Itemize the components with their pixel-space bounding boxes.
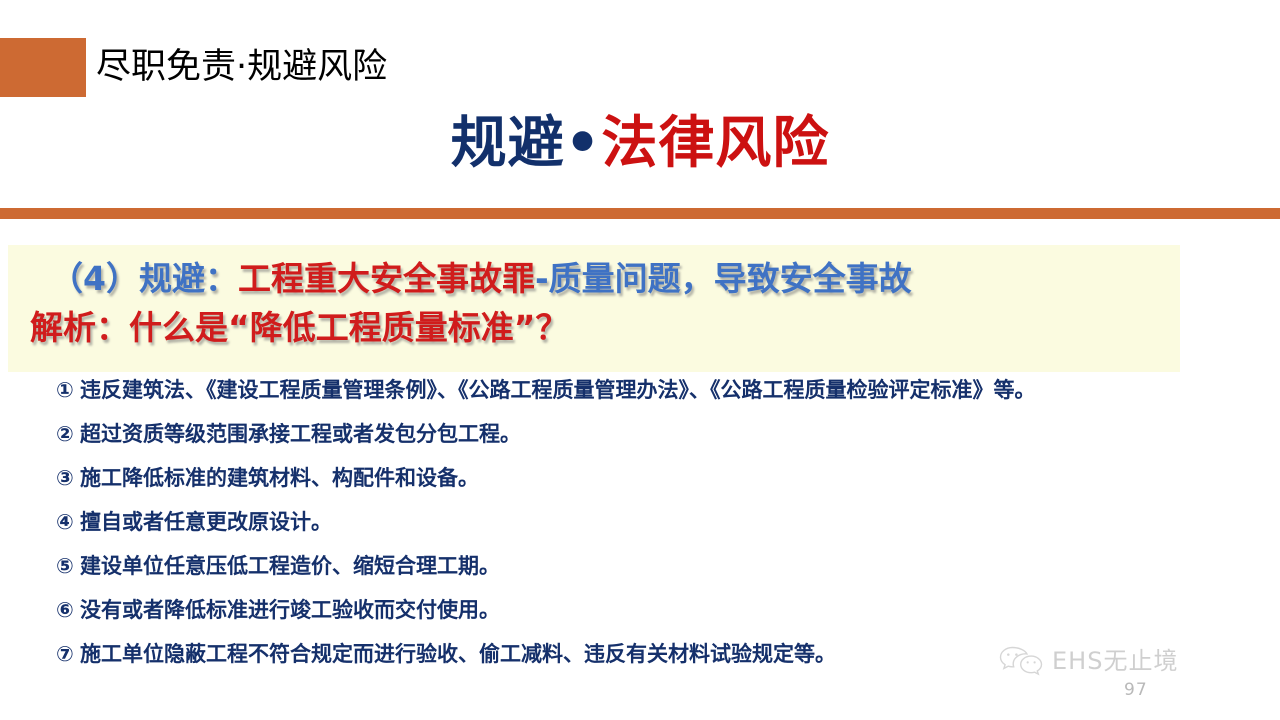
callout-line-1-suffix: -质量问题，导致安全事故	[535, 259, 912, 298]
numbered-list: ① 违反建筑法、《建设工程质量管理条例》、《公路工程质量管理办法》、《公路工程质…	[56, 378, 1256, 686]
list-item: ② 超过资质等级范围承接工程或者发包分包工程。	[56, 422, 1256, 466]
list-item-marker: ⑦	[56, 642, 80, 667]
list-item-marker: ⑤	[56, 554, 80, 579]
list-item-text: 建设单位任意压低工程造价、缩短合理工期。	[80, 554, 500, 579]
list-item: ④ 擅自或者任意更改原设计。	[56, 510, 1256, 554]
list-item-text: 施工降低标准的建筑材料、构配件和设备。	[80, 466, 479, 491]
header-accent-swatch	[0, 38, 86, 97]
list-item-marker: ②	[56, 422, 80, 447]
list-item-marker: ①	[56, 378, 80, 403]
callout-line-2-text: 解析：什么是“降低工程质量标准”？	[30, 308, 568, 347]
list-item: ① 违反建筑法、《建设工程质量管理条例》、《公路工程质量管理办法》、《公路工程质…	[56, 378, 1256, 422]
watermark-label: EHS无止境	[1052, 647, 1178, 675]
list-item-text: 没有或者降低标准进行竣工验收而交付使用。	[80, 598, 500, 623]
page-title-blue-part: 规避•	[451, 111, 602, 176]
callout-line-1-prefix: （4）规避：	[50, 259, 238, 298]
divider-bar	[0, 208, 1280, 219]
list-item-marker: ④	[56, 510, 80, 535]
callout-line-1-emphasis: 工程重大安全事故罪	[238, 259, 535, 298]
list-item-text: 违反建筑法、《建设工程质量管理条例》、《公路工程质量管理办法》、《公路工程质量检…	[80, 378, 1036, 403]
list-item: ⑤ 建设单位任意压低工程造价、缩短合理工期。	[56, 554, 1256, 598]
list-item-marker: ⑥	[56, 598, 80, 623]
callout-line-2: 解析：什么是“降低工程质量标准”？	[30, 307, 568, 349]
list-item-text: 施工单位隐蔽工程不符合规定而进行验收、偷工减料、违反有关材料试验规定等。	[80, 642, 836, 667]
page-number: 97	[1124, 680, 1148, 700]
list-item-text: 超过资质等级范围承接工程或者发包分包工程。	[80, 422, 521, 447]
page-title: 规避•法律风险	[0, 108, 1280, 180]
callout-line-1: （4）规避：工程重大安全事故罪-质量问题，导致安全事故	[50, 258, 912, 300]
list-item-text: 擅自或者任意更改原设计。	[80, 510, 332, 535]
list-item-marker: ③	[56, 466, 80, 491]
header-title: 尽职免责·规避风险	[96, 40, 387, 95]
wechat-icon	[998, 645, 1044, 677]
slide-canvas: 尽职免责·规避风险 规避•法律风险 （4）规避：工程重大安全事故罪-质量问题，导…	[0, 0, 1280, 720]
list-item: ⑥ 没有或者降低标准进行竣工验收而交付使用。	[56, 598, 1256, 642]
highlight-callout-box: （4）规避：工程重大安全事故罪-质量问题，导致安全事故 解析：什么是“降低工程质…	[8, 245, 1180, 372]
page-title-red-part: 法律风险	[601, 111, 829, 176]
watermark: EHS无止境	[998, 645, 1178, 677]
list-item: ③ 施工降低标准的建筑材料、构配件和设备。	[56, 466, 1256, 510]
